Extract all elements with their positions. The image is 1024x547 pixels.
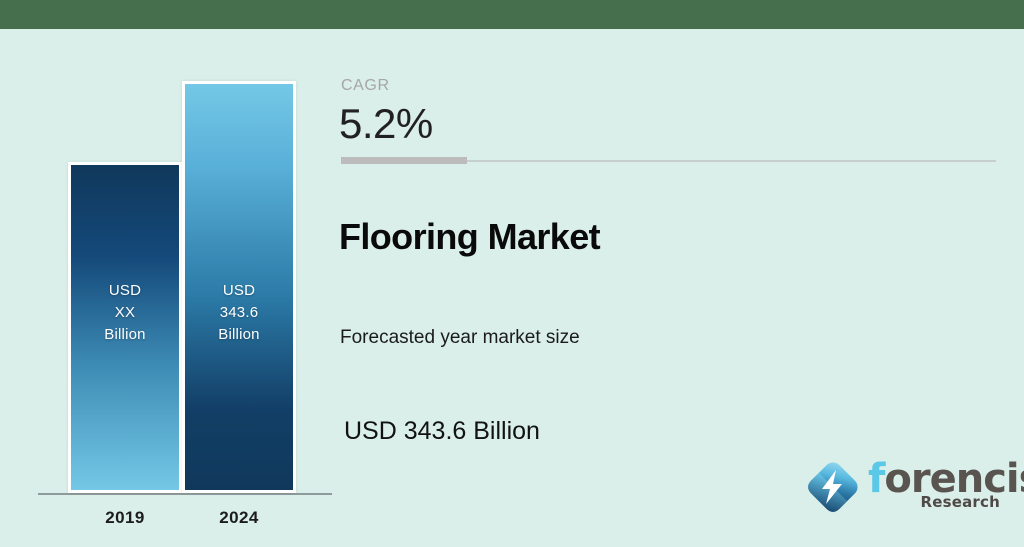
page-title: Flooring Market — [339, 216, 600, 258]
forecast-caption: Forecasted year market size — [340, 327, 580, 349]
bar-2019-value-label: USD XX Billion — [71, 280, 179, 346]
bar-chart: USD XX Billion USD 343.6 Billion 2019 20… — [0, 29, 335, 547]
chart-baseline-axis — [38, 493, 332, 495]
bar-2019-label-line1: USD — [71, 280, 179, 302]
x-axis-tick-2024: 2024 — [182, 508, 296, 528]
infographic-canvas: USD XX Billion USD 343.6 Billion 2019 20… — [0, 0, 1024, 547]
bar-2024[interactable]: USD 343.6 Billion — [182, 81, 296, 493]
forencis-wordmark: forencis Research — [868, 458, 1002, 518]
bar-2019-label-line2: XX — [71, 302, 179, 324]
x-axis-tick-2019: 2019 — [68, 508, 182, 528]
cagr-label: CAGR — [341, 77, 390, 95]
bar-2024-label-line2: 343.6 — [185, 302, 293, 324]
bar-2024-value-label: USD 343.6 Billion — [185, 280, 293, 346]
forencis-subtitle: Research — [920, 493, 1000, 511]
bar-2024-label-line1: USD — [185, 280, 293, 302]
cagr-value: 5.2% — [339, 99, 433, 149]
forencis-research-logo[interactable]: forencis Research — [802, 452, 1002, 524]
bar-2019-label-line3: Billion — [71, 324, 179, 346]
bar-2024-label-line3: Billion — [185, 324, 293, 346]
forecast-value: USD 343.6 Billion — [344, 417, 540, 446]
section-divider — [341, 157, 996, 164]
forencis-diamond-icon — [802, 456, 864, 518]
forencis-f-glyph: f — [868, 456, 884, 502]
top-green-band — [0, 0, 1024, 29]
bar-2019[interactable]: USD XX Billion — [68, 162, 182, 493]
divider-accent-segment — [341, 157, 467, 164]
